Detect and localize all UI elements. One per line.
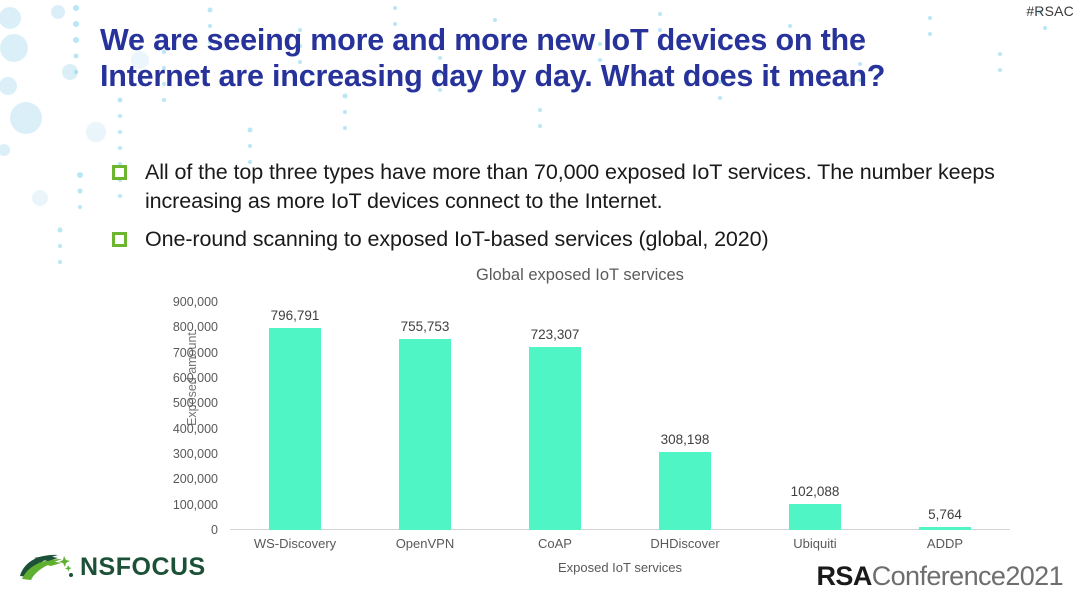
rsa-conference-logo: RSAConference2021 <box>817 561 1063 592</box>
y-axis-ticks: 900,000800,000700,000600,000500,000400,0… <box>144 262 218 582</box>
bar-value-label: 755,753 <box>401 319 450 334</box>
x-axis-category-label: DHDiscover <box>650 536 719 551</box>
bar-value-label: 796,791 <box>271 308 320 323</box>
nsfocus-mark-icon <box>18 552 76 582</box>
list-item: One-round scanning to exposed IoT-based … <box>112 225 1012 254</box>
chart-title: Global exposed IoT services <box>130 266 1030 285</box>
square-bullet-icon <box>112 165 127 180</box>
y-axis-tick-label: 100,000 <box>144 498 218 512</box>
bar[interactable] <box>399 339 451 530</box>
slide-canvas: #RSAC We are seeing more and more new Io… <box>0 0 1075 602</box>
rsa-logo-bold: RSA <box>817 561 872 591</box>
square-bullet-icon <box>112 232 127 247</box>
bar[interactable] <box>269 328 321 530</box>
y-axis-tick-label: 600,000 <box>144 371 218 385</box>
bullet-text: One-round scanning to exposed IoT-based … <box>145 225 769 254</box>
bar[interactable] <box>789 504 841 530</box>
x-axis-category-label: OpenVPN <box>396 536 455 551</box>
list-item: All of the top three types have more tha… <box>112 158 1012 216</box>
y-axis-tick-label: 400,000 <box>144 422 218 436</box>
bar-value-label: 102,088 <box>791 484 840 499</box>
bar[interactable] <box>529 347 581 530</box>
y-axis-tick-label: 300,000 <box>144 447 218 461</box>
bar-group: 723,307CoAP <box>490 302 620 530</box>
nsfocus-logo: NSFOCUS <box>18 552 206 582</box>
bullet-text: All of the top three types have more tha… <box>145 158 1012 216</box>
bullet-list: All of the top three types have more tha… <box>112 158 1012 263</box>
page-title: We are seeing more and more new IoT devi… <box>100 22 960 94</box>
bar-group: 102,088Ubiquiti <box>750 302 880 530</box>
nsfocus-wordmark: NSFOCUS <box>80 553 206 582</box>
bar-group: 755,753OpenVPN <box>360 302 490 530</box>
y-axis-tick-label: 500,000 <box>144 396 218 410</box>
bar-group: 308,198DHDiscover <box>620 302 750 530</box>
bar[interactable] <box>919 527 971 530</box>
y-axis-tick-label: 200,000 <box>144 472 218 486</box>
y-axis-tick-label: 0 <box>144 523 218 537</box>
x-axis-category-label: ADDP <box>927 536 963 551</box>
x-axis-category-label: Ubiquiti <box>793 536 836 551</box>
x-axis-category-label: CoAP <box>538 536 572 551</box>
y-axis-tick-label: 700,000 <box>144 346 218 360</box>
y-axis-tick-label: 800,000 <box>144 320 218 334</box>
bar-value-label: 5,764 <box>928 507 962 522</box>
bar-value-label: 723,307 <box>531 327 580 342</box>
bar[interactable] <box>659 452 711 530</box>
bar-value-label: 308,198 <box>661 432 710 447</box>
bar-chart: Global exposed IoT services Exposed amou… <box>130 262 1030 582</box>
y-axis-tick-label: 900,000 <box>144 295 218 309</box>
rsa-logo-light: Conference2021 <box>872 561 1063 591</box>
bar-group: 5,764ADDP <box>880 302 1010 530</box>
x-axis-category-label: WS-Discovery <box>254 536 336 551</box>
rsac-hashtag: #RSAC <box>1026 3 1074 19</box>
chart-plot-area: 796,791WS-Discovery755,753OpenVPN723,307… <box>230 302 1010 530</box>
bar-group: 796,791WS-Discovery <box>230 302 360 530</box>
